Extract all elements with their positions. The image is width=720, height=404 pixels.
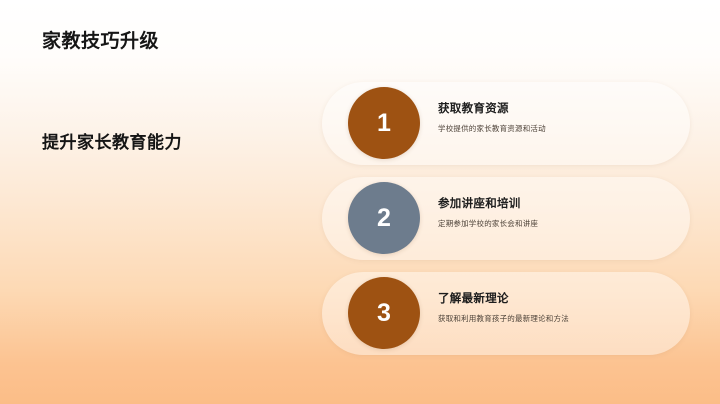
section-heading: 提升家长教育能力	[42, 128, 182, 153]
card-title: 参加讲座和培训	[438, 195, 678, 211]
card-title: 了解最新理论	[438, 290, 678, 306]
step-number-badge: 3	[348, 277, 420, 349]
card-subtitle: 定期参加学校的家长会和讲座	[438, 218, 678, 229]
step-number-badge: 2	[348, 182, 420, 254]
card-title: 获取教育资源	[438, 100, 678, 116]
card-text-block: 了解最新理论 获取和利用教育孩子的最新理论和方法	[438, 290, 678, 324]
slide-canvas: 家教技巧升级 提升家长教育能力 1 获取教育资源 学校提供的家长教育资源和活动 …	[0, 0, 720, 404]
step-card-list: 1 获取教育资源 学校提供的家长教育资源和活动 2 参加讲座和培训 定期参加学校…	[322, 82, 690, 367]
card-text-block: 获取教育资源 学校提供的家长教育资源和活动	[438, 100, 678, 134]
list-item[interactable]: 1 获取教育资源 学校提供的家长教育资源和活动	[322, 82, 690, 165]
card-subtitle: 获取和利用教育孩子的最新理论和方法	[438, 313, 678, 324]
list-item[interactable]: 3 了解最新理论 获取和利用教育孩子的最新理论和方法	[322, 272, 690, 355]
card-text-block: 参加讲座和培训 定期参加学校的家长会和讲座	[438, 195, 678, 229]
page-title: 家教技巧升级	[42, 26, 159, 53]
card-subtitle: 学校提供的家长教育资源和活动	[438, 123, 678, 134]
step-number-badge: 1	[348, 87, 420, 159]
list-item[interactable]: 2 参加讲座和培训 定期参加学校的家长会和讲座	[322, 177, 690, 260]
